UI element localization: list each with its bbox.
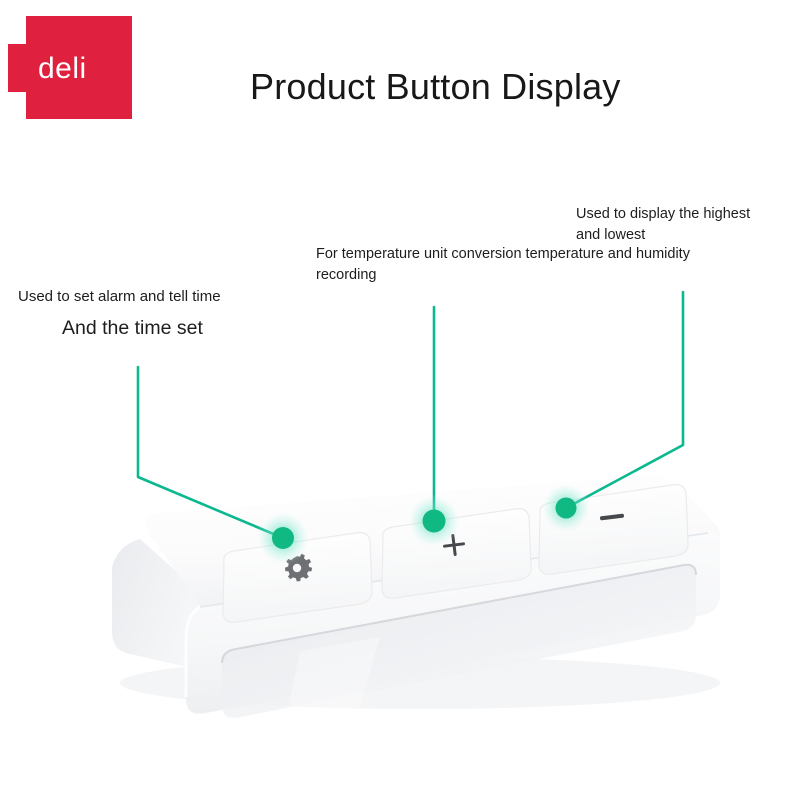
callout-unit-line-1: For temperature unit conversion temperat… [316,244,736,265]
callout-minmax-line-2: and lowest [576,225,796,246]
page-title: Product Button Display [250,66,710,108]
device-illustration [0,455,800,800]
callout-label-min-max: Used to display the highest and lowest [576,204,796,245]
callout-label-unit-conversion: For temperature unit conversion temperat… [316,244,736,285]
brand-logo: deli [8,16,132,124]
logo-wordmark: deli [38,54,87,84]
product-callout-illustration: deli Product Button Display Used to set … [0,0,800,800]
callout-unit-line-2: recording [316,265,736,286]
callout-settings-line-2: And the time set [62,315,318,343]
callout-label-settings: Used to set alarm and tell time And the … [18,286,318,343]
callout-minmax-line-1: Used to display the highest [576,204,796,225]
callout-settings-line-1: Used to set alarm and tell time [18,286,318,307]
